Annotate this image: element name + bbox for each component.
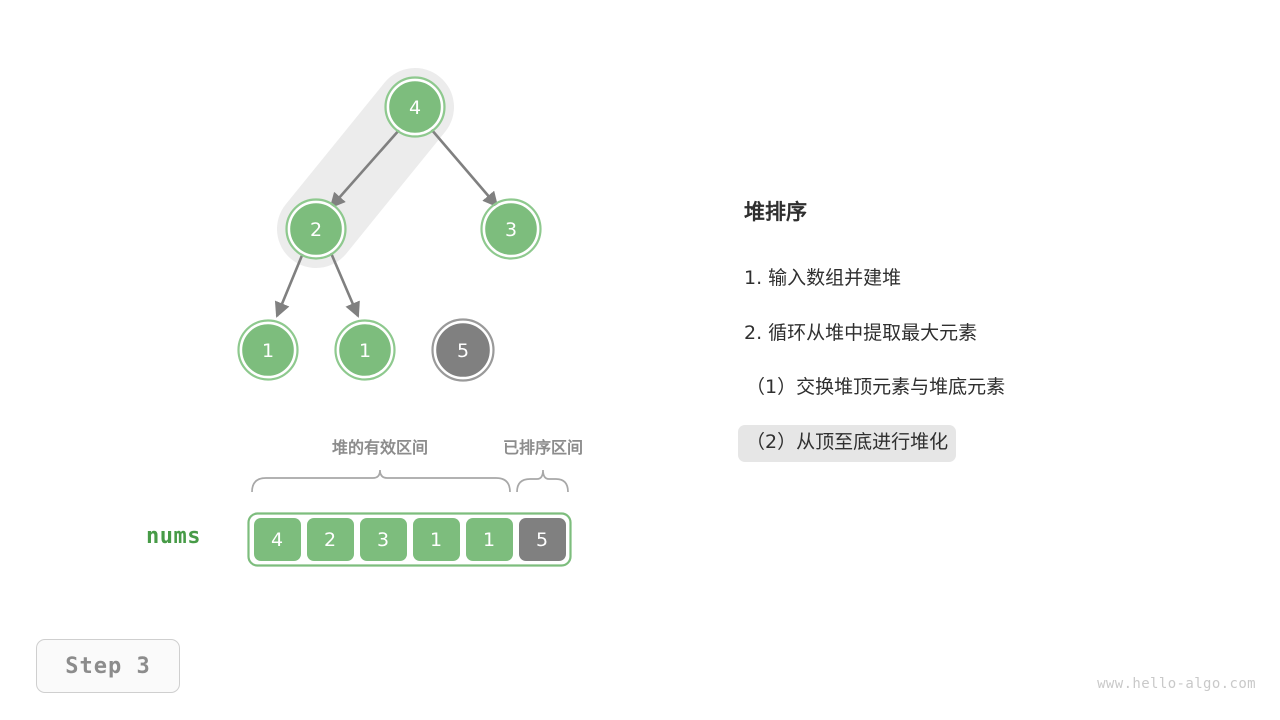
edge-2-to-1b	[331, 253, 358, 316]
array-container	[249, 514, 571, 566]
array-cell-1-label: 2	[324, 529, 336, 551]
step-row-2-2: （2）从顶至底进行堆化	[742, 425, 1242, 480]
sorted-range-label: 已排序区间	[503, 434, 583, 458]
array-cell-2-label: 3	[377, 529, 389, 551]
array-cell-0-label: 4	[271, 529, 283, 551]
array-cell-4-label: 1	[483, 529, 495, 551]
tree-node-1-left[interactable]	[239, 321, 298, 380]
footer-watermark: www.hello-algo.com	[1097, 676, 1256, 692]
step-badge: Step 3	[36, 639, 180, 693]
diagram-canvas: 4 2 3 1 1 5 nums 4 2 3 1 1 5 堆的有效区间 已排序区…	[0, 0, 1280, 720]
edge-2-to-1a	[277, 253, 303, 316]
step-item-2-1[interactable]: （1）交换堆顶元素与堆底元素	[738, 370, 1013, 407]
edge-4-to-3	[431, 129, 497, 206]
explanation-panel: 堆排序 1. 输入数组并建堆 2. 循环从堆中提取最大元素 （1）交换堆顶元素与…	[742, 200, 1242, 480]
tree-node-5-sorted[interactable]	[433, 320, 494, 381]
brace-heap-range	[252, 470, 510, 492]
step-item-2-2[interactable]: （2）从顶至底进行堆化	[738, 425, 956, 462]
step-item-1[interactable]: 1. 输入数组并建堆	[736, 261, 909, 298]
step-row-2: 2. 循环从堆中提取最大元素	[742, 316, 1242, 371]
range-braces	[252, 470, 568, 492]
panel-title: 堆排序	[744, 200, 1242, 225]
tree-node-3[interactable]	[482, 200, 541, 259]
array-name-label: nums	[146, 524, 201, 549]
tree-node-1-right[interactable]	[336, 321, 395, 380]
step-item-2[interactable]: 2. 循环从堆中提取最大元素	[736, 316, 985, 353]
step-row-2-1: （1）交换堆顶元素与堆底元素	[742, 370, 1242, 425]
heap-valid-range-label: 堆的有效区间	[332, 434, 428, 458]
step-row-1: 1. 输入数组并建堆	[742, 261, 1242, 316]
tree-node-2[interactable]	[287, 200, 346, 259]
tree-node-4[interactable]	[386, 78, 445, 137]
array-cell-3-label: 1	[430, 529, 442, 551]
array-cell-5-label: 5	[536, 529, 548, 551]
brace-sorted-range	[517, 470, 568, 492]
